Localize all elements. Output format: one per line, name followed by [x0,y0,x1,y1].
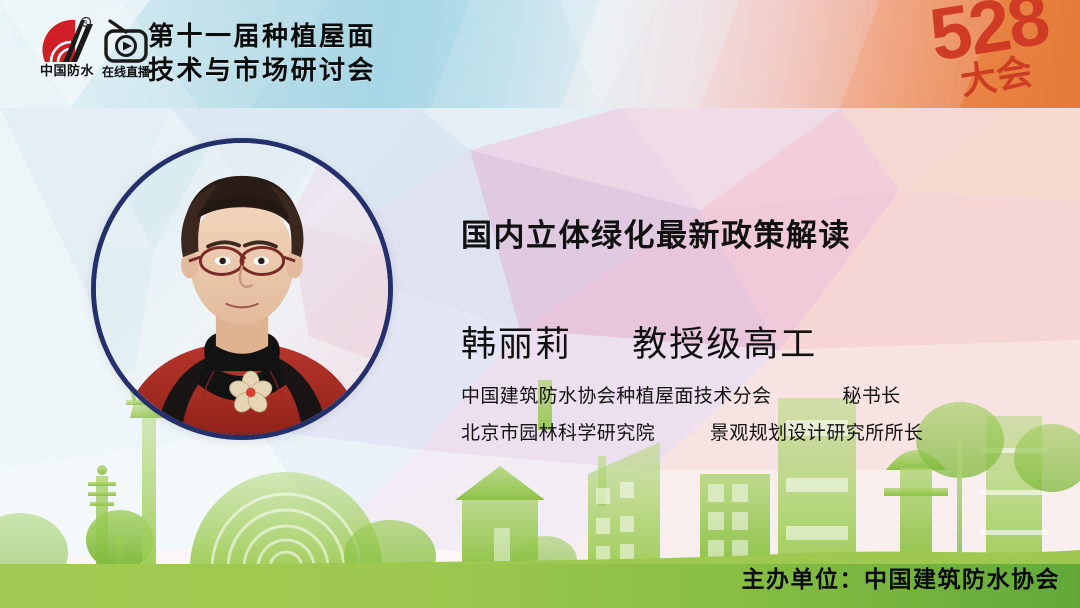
affiliation-1-org: 中国建筑防水协会种植屋面技术分会 [461,385,771,407]
china-waterproof-logo: R 中国防水 [40,16,94,78]
speaker-name-line: 韩丽莉 教授级高工 [461,316,817,367]
play-triangle-icon [123,42,132,51]
live-broadcast-radio-icon [100,17,152,65]
affiliation-2-role: 景观规划设计研究所所长 [710,422,923,444]
affiliation-1-role: 秘书长 [842,385,900,407]
event-title-line1: 第十一届种植屋面 [148,20,376,54]
china-waterproof-logo-icon: R [41,16,93,64]
speaker-name: 韩丽莉 [461,325,572,365]
speaker-rank: 教授级高工 [632,325,817,365]
badge-label: 大会 [956,43,1035,106]
affiliation-line-2: 北京市园林科学研究院 景观规划设计研究所所长 [461,418,923,445]
header-band: 528 大会 R [0,0,1080,108]
live-broadcast-logo-caption: 在线直播 [102,66,150,78]
speaker-portrait-avatar [91,138,393,440]
slide-canvas: 528 大会 R [0,0,1080,608]
speaker-portrait-image [96,143,388,435]
logo-cluster: R 中国防水 在线直播 [40,16,152,78]
affiliation-line-1: 中国建筑防水协会种植屋面技术分会 秘书长 [461,381,901,408]
talk-title: 国内立体绿化最新政策解读 [461,210,851,255]
live-broadcast-logo: 在线直播 [100,17,152,78]
svg-text:R: R [84,21,88,27]
event-date-badge: 528 大会 [916,0,1080,108]
china-waterproof-logo-caption: 中国防水 [40,65,94,78]
organizer-text: 主办单位：中国建筑防水协会 [742,560,1061,594]
event-title-line2: 技术与市场研讨会 [148,54,376,88]
affiliation-2-org: 北京市园林科学研究院 [461,422,655,444]
event-title: 第十一届种植屋面 技术与市场研讨会 [148,20,376,89]
